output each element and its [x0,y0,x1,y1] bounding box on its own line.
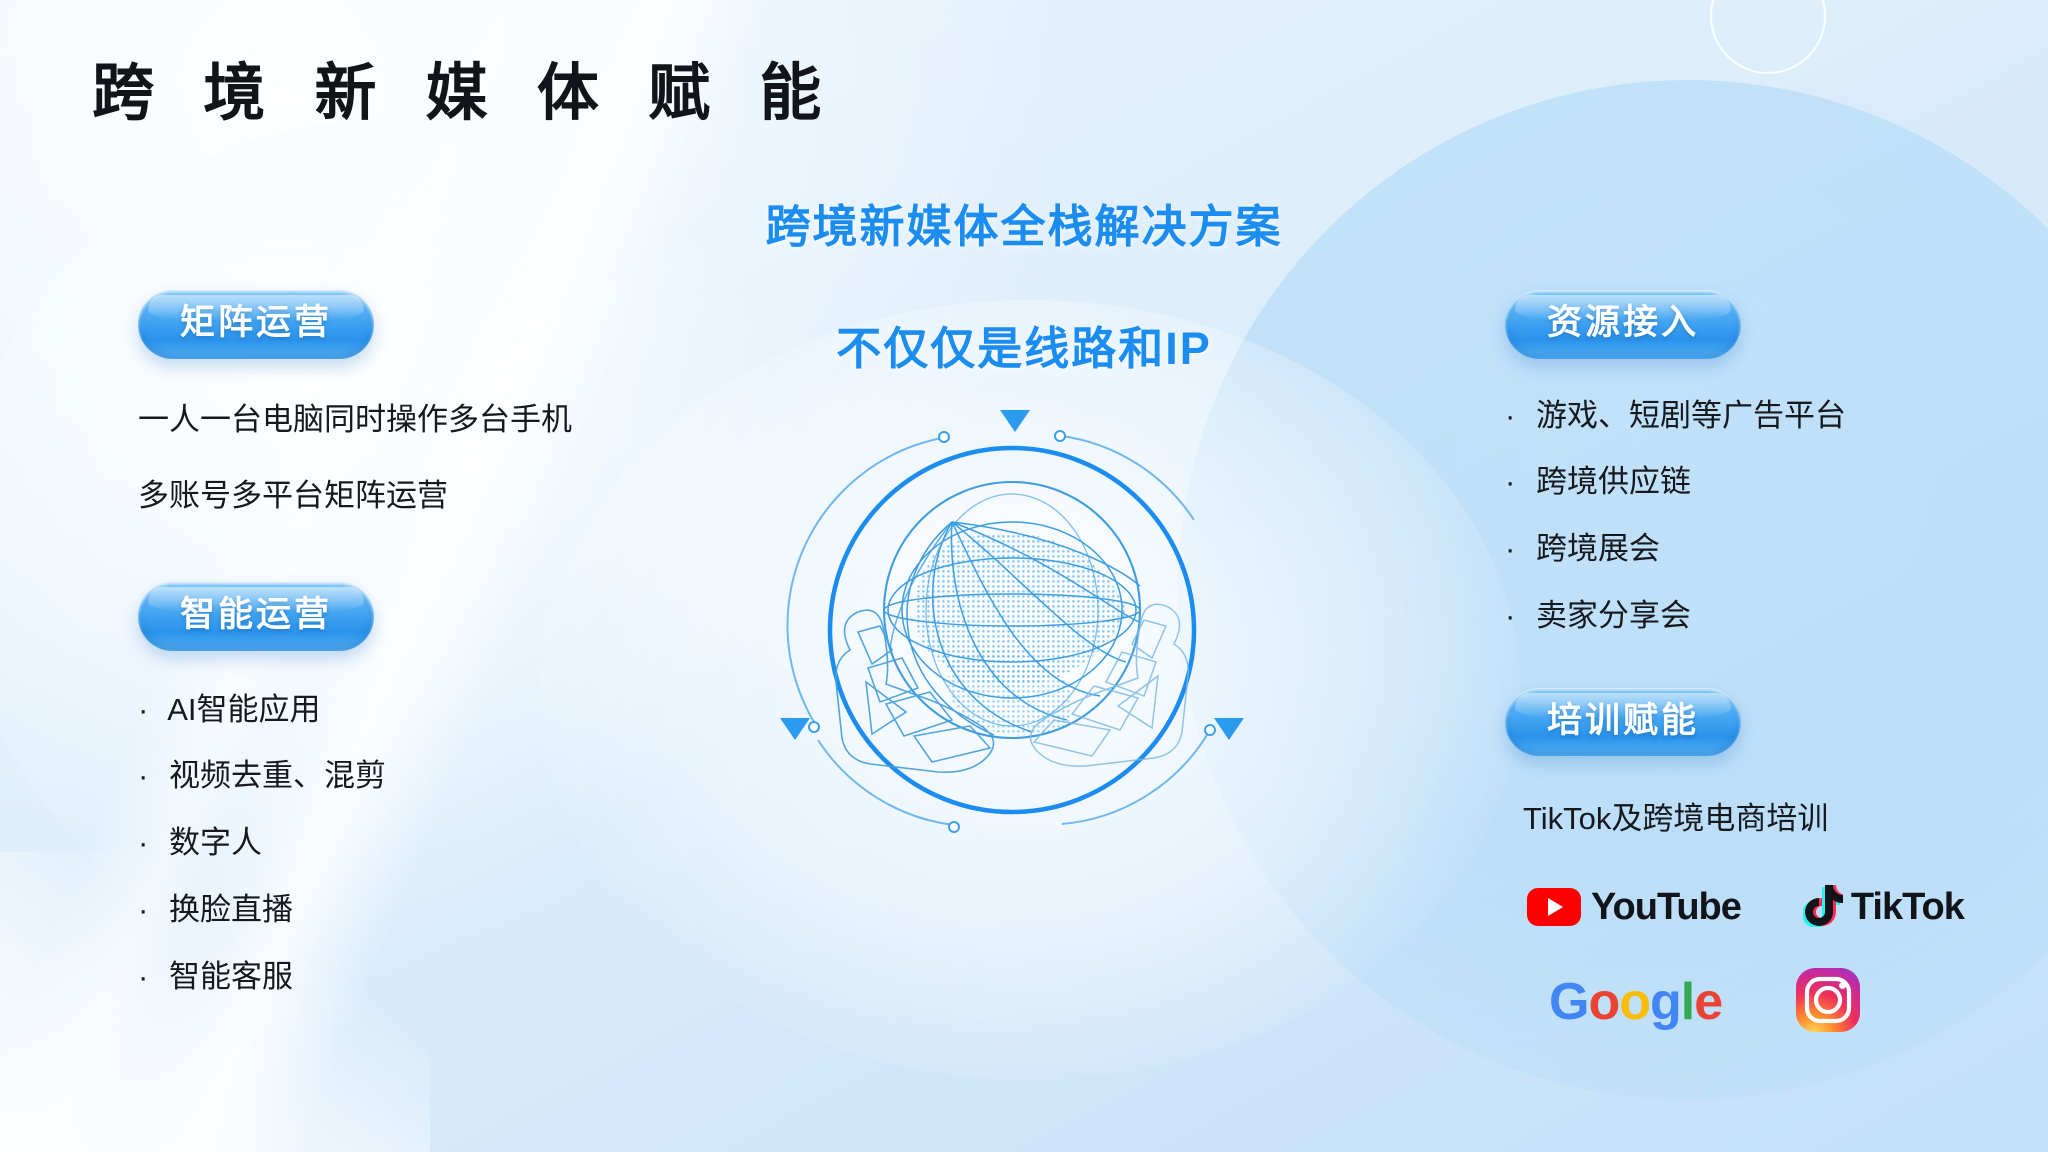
bullet-icon: · [1505,530,1515,569]
list-item: · 换脸直播 [138,891,738,930]
bullet-icon: · [1505,463,1515,502]
bullet-icon: · [138,958,148,997]
tiktok-logo-label: TikTok [1851,886,1964,929]
list-item-label: 卖家分享会 [1536,598,1691,633]
section-smart-operation: 智能运营 · AI智能应用 · 视频去重、混剪 · 数字人 · 换脸直播 [138,582,738,996]
google-letter-g1: G [1549,973,1588,1031]
google-letter-l: l [1681,973,1694,1031]
list-item-label: 游戏、短剧等广告平台 [1536,398,1846,433]
google-logo[interactable]: Google [1549,972,1722,1032]
right-column: 资源接入 · 游戏、短剧等广告平台 · 跨境供应链 · 跨境展会 · 卖家分享会 [1505,290,2048,1039]
instagram-logo[interactable] [1794,966,1862,1039]
pill-resource-access[interactable]: 资源接入 [1505,290,1741,359]
list-item-label: 跨境供应链 [1536,464,1691,499]
list-item: · 跨境供应链 [1505,463,2048,502]
section-matrix-operation: 矩阵运营 一人一台电脑同时操作多台手机 多账号多平台矩阵运营 [138,290,738,516]
bullet-icon: · [1505,597,1515,636]
section-training-empowerment: 培训赋能 TikTok及跨境电商培训 [1505,688,2048,839]
list-item: · 卖家分享会 [1505,597,2048,636]
list-item-label: 数字人 [169,825,262,860]
list-item: · 视频去重、混剪 [138,757,738,796]
pill-training-empowerment[interactable]: 培训赋能 [1505,688,1741,757]
slide-canvas: 跨 境 新 媒 体 赋 能 跨境新媒体全栈解决方案 不仅仅是线路和IP [0,0,2048,1152]
list-item-label: 视频去重、混剪 [169,758,386,793]
youtube-badge-icon [1527,888,1581,926]
matrix-line-1: 一人一台电脑同时操作多台手机 [138,401,738,440]
left-column: 矩阵运营 一人一台电脑同时操作多台手机 多账号多平台矩阵运营 智能运营 · AI… [138,290,738,996]
globe-in-hands-illustration [762,400,1262,860]
pill-matrix-operation[interactable]: 矩阵运营 [138,290,374,359]
bullet-icon: · [138,824,148,863]
list-item: · 数字人 [138,824,738,863]
list-item: · 智能客服 [138,958,738,997]
matrix-line-2: 多账号多平台矩阵运营 [138,477,738,516]
center-heading-primary: 跨境新媒体全栈解决方案 [0,190,2048,255]
ring-decoration-icon [1710,0,1826,74]
training-line-1: TikTok及跨境电商培训 [1523,800,2048,839]
list-item: · 游戏、短剧等广告平台 [1505,397,2048,436]
page-title: 跨 境 新 媒 体 赋 能 [92,42,837,132]
list-item: · AI智能应用 [138,691,738,730]
google-letter-e: e [1694,973,1722,1031]
youtube-logo[interactable]: YouTube [1527,886,1741,929]
google-letter-o1: o [1588,973,1619,1031]
section-resource-access: 资源接入 · 游戏、短剧等广告平台 · 跨境供应链 · 跨境展会 · 卖家分享会 [1505,290,2048,636]
list-item-label: 智能客服 [169,959,293,994]
logo-row-bottom: Google [1549,966,2048,1039]
bullet-icon: · [138,691,148,730]
pill-smart-operation[interactable]: 智能运营 [138,582,374,651]
play-triangle-icon [1548,898,1563,916]
google-letter-o2: o [1619,973,1650,1031]
tiktok-note-icon [1803,883,1843,932]
youtube-logo-label: YouTube [1591,886,1741,929]
list-item: · 跨境展会 [1505,530,2048,569]
list-item-label: AI智能应用 [167,692,320,727]
bullet-icon: · [138,757,148,796]
google-letter-g2: g [1650,973,1681,1031]
list-item-label: 跨境展会 [1536,531,1660,566]
tiktok-logo[interactable]: TikTok [1803,883,1964,932]
resource-access-list: · 游戏、短剧等广告平台 · 跨境供应链 · 跨境展会 · 卖家分享会 [1505,397,2048,636]
smart-operation-list: · AI智能应用 · 视频去重、混剪 · 数字人 · 换脸直播 · 智能客服 [138,691,738,997]
bullet-icon: · [138,891,148,930]
list-item-label: 换脸直播 [169,892,293,927]
bullet-icon: · [1505,397,1515,436]
logo-row-top: YouTube TikTok [1527,883,2048,932]
